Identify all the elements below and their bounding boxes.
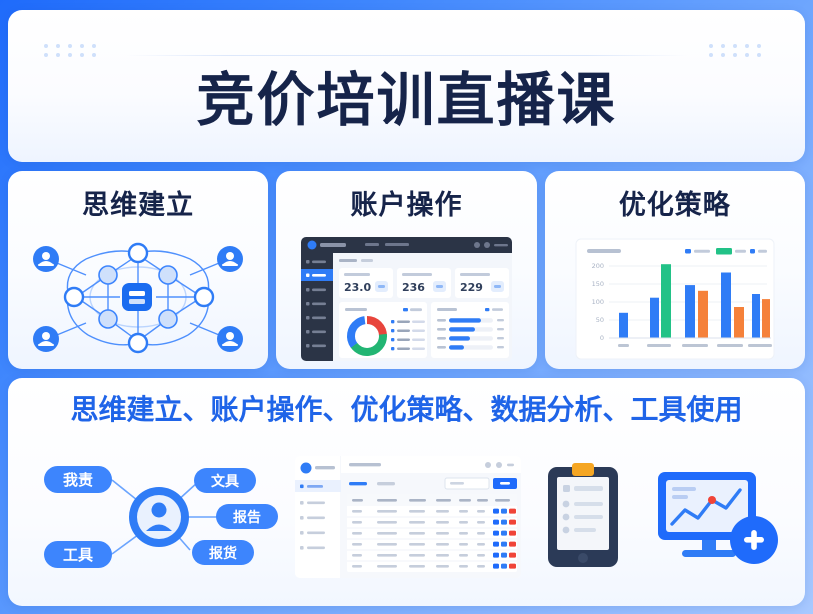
- clipboard-checklist-icon: [542, 461, 624, 573]
- network-diagram: [8, 228, 268, 369]
- summary-panel: 思维建立、账户操作、优化策略、数据分析、工具使用: [8, 378, 805, 606]
- decorative-dots-right: [709, 44, 769, 62]
- mindmap-label: 报货: [209, 545, 237, 562]
- bar-chart-mockup: 200 150 100 50 0: [545, 228, 805, 369]
- mindmap-svg: 我责 工具 文具 报告 报货: [26, 458, 284, 576]
- card-account-ops-title: 账户操作: [350, 183, 462, 222]
- logout-icon: [507, 464, 514, 467]
- mindmap-node-top-left: 我责: [44, 466, 112, 493]
- mindmap-label: 文具: [211, 473, 239, 490]
- svg-text:150: 150: [591, 280, 603, 288]
- breadcrumb: [349, 463, 381, 466]
- bar-chart-svg: 200 150 100 50 0: [575, 238, 775, 360]
- title-banner: 竞价培训直播课: [8, 10, 805, 162]
- person-node-icon: [33, 246, 59, 272]
- table-mockup-svg: [293, 454, 523, 580]
- clip-icon: [572, 463, 594, 476]
- mindmap-label: 报告: [233, 509, 261, 526]
- user-icon: [151, 503, 166, 518]
- card-thinking[interactable]: 思维建立: [8, 171, 268, 369]
- card-account-ops[interactable]: 账户操作: [276, 171, 536, 369]
- tab-active: [349, 482, 367, 485]
- mindmap-node-top-right: 文具: [194, 468, 256, 493]
- logo-icon: [301, 463, 312, 474]
- decorative-dots-left: [44, 44, 104, 62]
- mindmap-node-right: 报告: [216, 504, 278, 529]
- svg-text:236: 236: [402, 281, 425, 294]
- svg-text:229: 229: [460, 281, 483, 294]
- table-mockup: [293, 436, 523, 598]
- card-optimization[interactable]: 优化策略: [545, 171, 805, 369]
- person-node-icon: [217, 326, 243, 352]
- bell-icon: [496, 462, 502, 468]
- dashboard-mockup: 23.0 236 229: [276, 228, 536, 369]
- mindmap-illustration: 我责 工具 文具 报告 报货: [22, 436, 287, 598]
- clipboard-illustration: [529, 436, 637, 598]
- card-thinking-title: 思维建立: [82, 183, 194, 222]
- card-optimization-title: 优化策略: [619, 183, 731, 222]
- monitor-illustration: [644, 436, 791, 598]
- dashboard-mockup-svg: 23.0 236 229: [299, 235, 514, 363]
- network-diagram-svg: [24, 231, 252, 366]
- mindmap-node-bottom-left: 工具: [44, 541, 112, 568]
- page-title: 竞价培训直播课: [196, 53, 616, 137]
- svg-text:50: 50: [596, 316, 604, 324]
- summary-headline: 思维建立、账户操作、优化策略、数据分析、工具使用: [70, 388, 742, 428]
- mindmap-node-bottom-right: 报货: [192, 540, 254, 565]
- chart-title-placeholder: [587, 249, 621, 253]
- gear-icon: [485, 462, 491, 468]
- svg-text:200: 200: [591, 262, 603, 270]
- svg-text:100: 100: [591, 298, 603, 306]
- person-node-icon: [217, 246, 243, 272]
- tab-inactive: [377, 482, 395, 485]
- mindmap-label: 工具: [63, 546, 93, 564]
- feature-cards-row: 思维建立: [8, 171, 805, 369]
- svg-text:23.0: 23.0: [344, 281, 371, 294]
- person-node-icon: [33, 326, 59, 352]
- summary-illustrations: 我责 工具 文具 报告 报货: [22, 436, 791, 598]
- monitor-linechart-icon: [652, 462, 782, 572]
- chart-marker: [708, 496, 716, 504]
- svg-text:0: 0: [600, 334, 604, 342]
- mindmap-label: 我责: [63, 471, 93, 489]
- banner-divider-line: [126, 55, 687, 56]
